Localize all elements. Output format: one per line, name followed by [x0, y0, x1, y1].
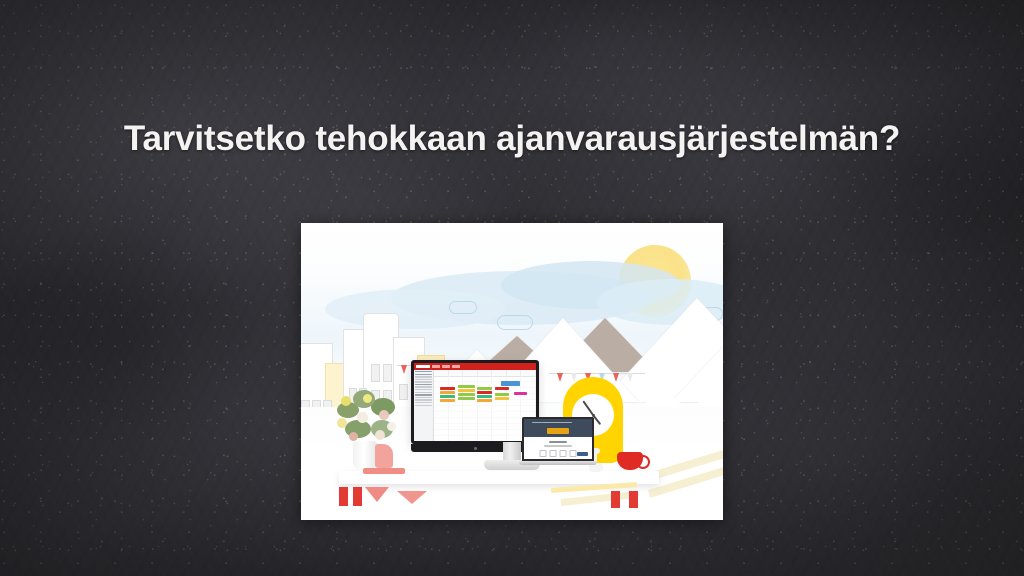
calendar-event[interactable]	[477, 395, 492, 398]
building-window	[371, 364, 380, 382]
laptop-base	[519, 461, 597, 465]
flower	[357, 412, 368, 423]
calendar-event[interactable]	[458, 389, 474, 392]
website-service-icon[interactable]	[550, 450, 557, 457]
sidebar-row[interactable]	[415, 392, 432, 393]
website-nav[interactable]	[532, 422, 572, 423]
website-hero	[524, 419, 592, 437]
flower	[379, 410, 389, 420]
flower	[341, 396, 351, 406]
calendar-app-body	[414, 370, 536, 441]
pennant-icon	[557, 373, 563, 382]
hero-photo	[301, 223, 723, 520]
pennant-icon	[627, 373, 633, 382]
red-cup	[617, 452, 643, 470]
slide-canvas: Tarvitsetko tehokkaan ajanvarausjärjeste…	[0, 0, 1024, 576]
sidebar-row[interactable]	[415, 374, 432, 375]
deco-block	[353, 487, 362, 506]
hero-photo-scene	[301, 223, 723, 520]
calendar-app-topbar	[414, 363, 536, 370]
laptop-lid	[522, 417, 594, 461]
calendar-event[interactable]	[458, 385, 474, 388]
flower	[349, 432, 358, 441]
calendar-event[interactable]	[495, 387, 509, 390]
flower	[363, 394, 372, 403]
sidebar-row[interactable]	[415, 399, 432, 400]
calendar-event[interactable]	[440, 399, 455, 402]
sidebar-row[interactable]	[415, 376, 432, 377]
flower	[375, 430, 385, 440]
calendar-event[interactable]	[495, 393, 509, 396]
deco-block	[339, 487, 348, 506]
sidebar-row[interactable]	[415, 397, 432, 398]
website-book-button[interactable]	[577, 452, 588, 456]
sidebar-row[interactable]	[415, 402, 432, 403]
calendar-event[interactable]	[440, 387, 455, 390]
cup-handle	[636, 455, 650, 469]
desk-accessory	[363, 468, 405, 474]
website-body	[524, 437, 592, 459]
calendar-sidebar	[414, 370, 434, 441]
app-logo	[416, 365, 430, 369]
slide-title: Tarvitsetko tehokkaan ajanvarausjärjeste…	[0, 118, 1024, 160]
deco-triangle	[365, 487, 389, 502]
calendar-event[interactable]	[458, 397, 474, 400]
sidebar-row[interactable]	[415, 389, 432, 390]
calendar-event[interactable]	[514, 392, 527, 395]
pennant-icon	[613, 373, 619, 382]
sidebar-row[interactable]	[415, 381, 432, 382]
deco-block	[629, 491, 638, 508]
website-heading	[549, 441, 567, 443]
calendar-event[interactable]	[477, 391, 492, 394]
app-menu-item[interactable]	[432, 365, 440, 368]
flower	[387, 422, 396, 431]
laptop	[519, 417, 597, 465]
cloud-outline-icon	[449, 301, 477, 314]
calendar-event[interactable]	[495, 397, 509, 400]
sidebar-row[interactable]	[415, 379, 432, 380]
sidebar-row[interactable]	[415, 384, 432, 385]
monitor-screen	[414, 363, 536, 441]
calendar-event[interactable]	[458, 393, 474, 396]
desk-accessory	[375, 444, 393, 468]
deco-triangle	[397, 491, 427, 504]
building-window	[383, 364, 392, 382]
deco-block	[611, 491, 620, 508]
website-icon-row	[540, 450, 577, 457]
cloud-band	[325, 289, 505, 329]
calendar-event[interactable]	[501, 381, 519, 387]
calendar-event[interactable]	[440, 395, 455, 398]
pennant-icon	[401, 365, 407, 374]
app-menu-item[interactable]	[452, 365, 460, 368]
app-menu-item[interactable]	[442, 365, 450, 368]
calendar-event[interactable]	[440, 391, 455, 394]
sidebar-row[interactable]	[415, 386, 432, 387]
website-service-icon[interactable]	[540, 450, 547, 457]
calendar-event[interactable]	[477, 399, 492, 402]
flower	[337, 418, 347, 428]
sidebar-row[interactable]	[415, 405, 432, 406]
sidebar-row[interactable]	[415, 394, 432, 395]
flower-bouquet	[331, 388, 401, 448]
website-cta-button[interactable]	[547, 428, 569, 434]
website-service-icon[interactable]	[560, 450, 567, 457]
laptop-screen	[524, 419, 592, 459]
calendar-event[interactable]	[477, 387, 492, 390]
website-subheading	[544, 445, 572, 446]
sidebar-row[interactable]	[415, 371, 432, 372]
monitor-power-indicator-icon	[474, 447, 477, 450]
website-service-icon[interactable]	[570, 450, 577, 457]
